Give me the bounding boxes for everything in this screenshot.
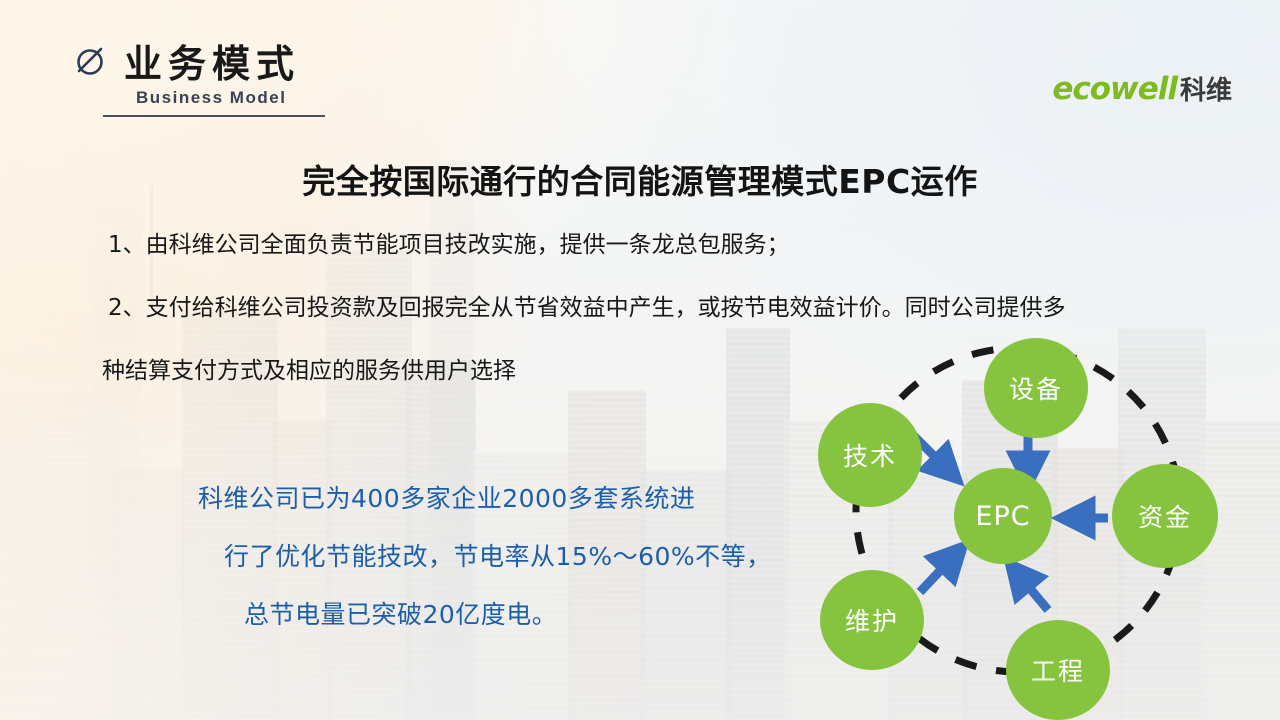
body-paragraph-2-line-1: 2、支付给科维公司投资款及回报完全从节省效益中产生，或按节电效益计价。同时公司提… — [108, 297, 1066, 320]
diagram-node-equipment[interactable]: 设备 — [984, 338, 1088, 438]
slashed-circle-icon — [70, 40, 110, 80]
page-subtitle: Business Model — [136, 88, 286, 108]
node-label: 维护 — [845, 602, 899, 638]
slide-canvas: 业务模式 Business Model ecowell 科维 完全按国际通行的合… — [0, 0, 1280, 720]
page-title: 业务模式 — [124, 33, 300, 88]
highlight-line-3: 总节电量已突破20亿度电。 — [198, 586, 738, 644]
node-label: 工程 — [1031, 652, 1085, 688]
slide-main-title: 完全按国际通行的合同能源管理模式EPC运作 — [0, 155, 1280, 203]
body-paragraph-1: 1、由科维公司全面负责节能项目技改实施，提供一条龙总包服务； — [108, 234, 790, 257]
diagram-node-epc-center[interactable]: EPC — [954, 468, 1052, 564]
diagram-node-maintenance[interactable]: 维护 — [820, 570, 924, 670]
diagram-node-technology[interactable]: 技术 — [818, 403, 922, 507]
node-label: EPC — [975, 501, 1030, 532]
node-label: 技术 — [843, 437, 897, 473]
company-logo: ecowell 科维 — [1052, 74, 1232, 105]
slide-header: 业务模式 Business Model — [0, 0, 1280, 130]
highlight-line-2: 行了优化节能技改，节电率从15%～60%不等， — [198, 528, 738, 586]
node-label: 资金 — [1138, 498, 1192, 534]
highlight-statement: 科维公司已为400多家企业2000多套系统进 行了优化节能技改，节电率从15%～… — [198, 470, 738, 644]
highlight-line-1: 科维公司已为400多家企业2000多套系统进 — [198, 470, 738, 528]
header-divider — [103, 115, 325, 117]
logo-english-text: ecowell — [1052, 74, 1177, 105]
body-paragraph-2-line-2: 种结算支付方式及相应的服务供用户选择 — [102, 360, 516, 383]
arrow-engineering-to-epc — [1018, 574, 1048, 610]
diagram-node-capital[interactable]: 资金 — [1112, 464, 1218, 568]
diagram-node-engineering[interactable]: 工程 — [1006, 620, 1110, 720]
epc-cycle-diagram: 技术 设备 资金 工程 维护 EPC — [790, 320, 1260, 720]
node-label: 设备 — [1009, 370, 1063, 406]
logo-chinese-text: 科维 — [1180, 77, 1232, 103]
arrow-maintenance-to-epc — [920, 556, 954, 592]
